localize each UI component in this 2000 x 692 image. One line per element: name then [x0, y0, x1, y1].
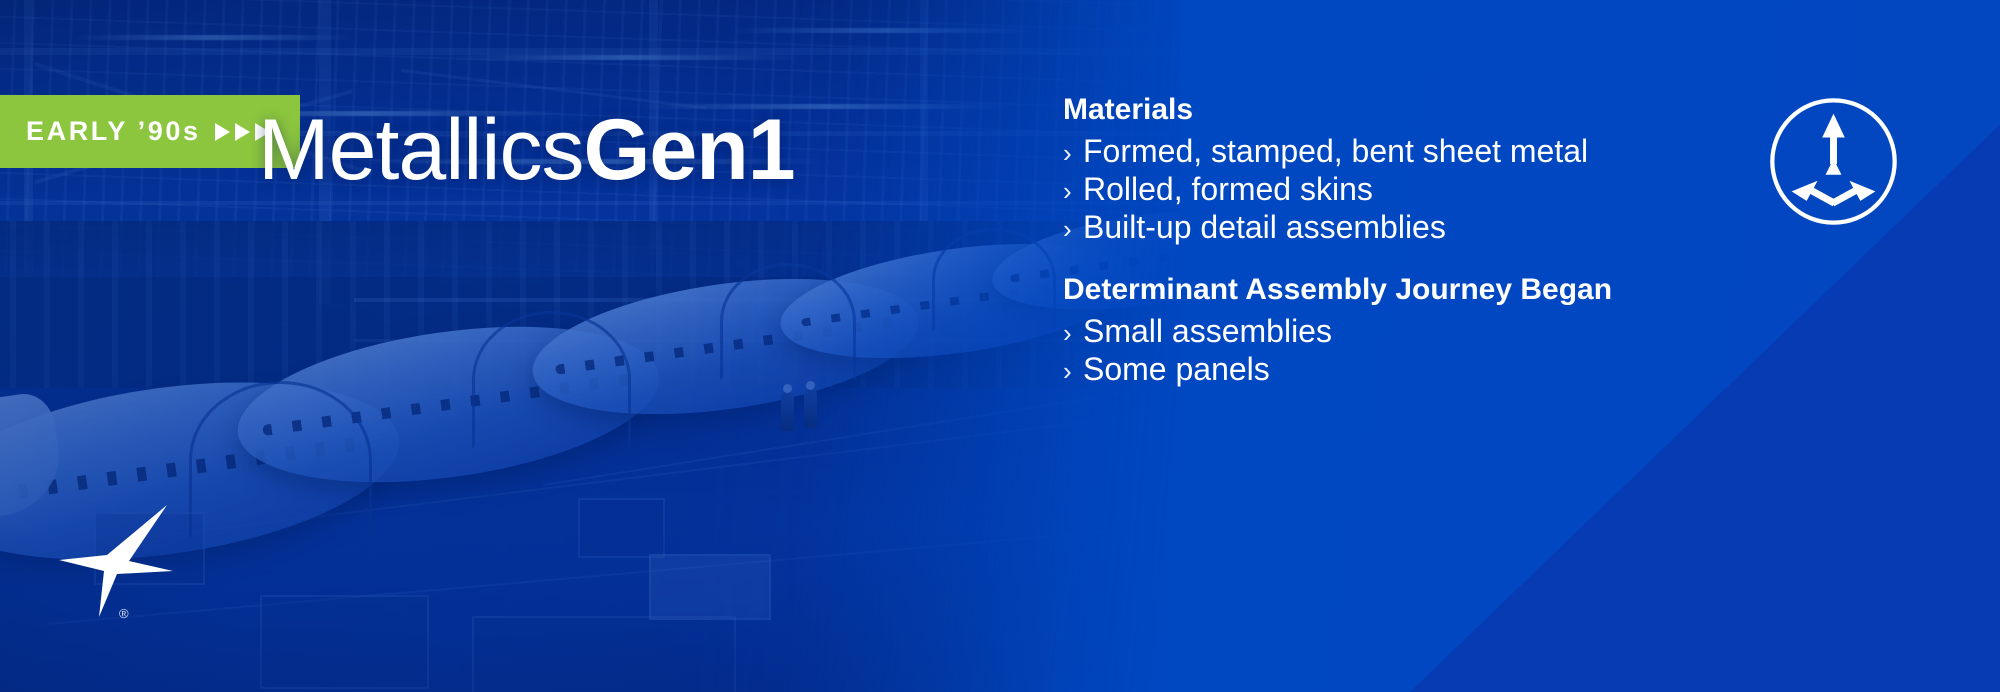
play-arrow-icon: [215, 123, 230, 141]
chevron-right-icon: ›: [1063, 356, 1083, 387]
content-column: Materials › Formed, stamped, bent sheet …: [1063, 90, 1783, 389]
list-item-label: Built-up detail assemblies: [1083, 209, 1446, 247]
list-item: › Rolled, formed skins: [1063, 171, 1783, 209]
chevron-right-icon: ›: [1063, 318, 1083, 349]
list-item: › Small assemblies: [1063, 313, 1783, 351]
tri-arrow-circle-icon: [1767, 95, 1900, 228]
group-heading: Determinant Assembly Journey Began: [1063, 270, 1783, 309]
list-item-label: Formed, stamped, bent sheet metal: [1083, 133, 1588, 171]
content-group-determinant-assembly: Determinant Assembly Journey Began › Sma…: [1063, 270, 1783, 389]
list-item: › Some panels: [1063, 351, 1783, 389]
chevron-right-icon: ›: [1063, 214, 1083, 245]
play-arrow-icon: [235, 123, 250, 141]
list-item-label: Rolled, formed skins: [1083, 171, 1373, 209]
era-badge-label: EARLY ’90s: [26, 118, 201, 145]
era-badge: EARLY ’90s: [0, 95, 300, 168]
metallics-gen1-banner: EARLY ’90s MetallicsGen1 Materials › For…: [0, 0, 2000, 692]
list-item: › Built-up detail assemblies: [1063, 209, 1783, 247]
page-title: MetallicsGen1: [258, 105, 795, 195]
list-item-label: Small assemblies: [1083, 313, 1332, 351]
group-heading: Materials: [1063, 90, 1783, 129]
chevron-right-icon: ›: [1063, 176, 1083, 207]
chevron-right-icon: ›: [1063, 138, 1083, 169]
content-group-materials: Materials › Formed, stamped, bent sheet …: [1063, 90, 1783, 246]
title-bold-part: Gen1: [584, 102, 795, 198]
list-item-label: Some panels: [1083, 351, 1270, 389]
registered-trademark-icon: ®: [119, 607, 129, 620]
list-item: › Formed, stamped, bent sheet metal: [1063, 133, 1783, 171]
title-light-part: Metallics: [258, 102, 584, 198]
boeing-symbol-icon: [55, 499, 175, 619]
